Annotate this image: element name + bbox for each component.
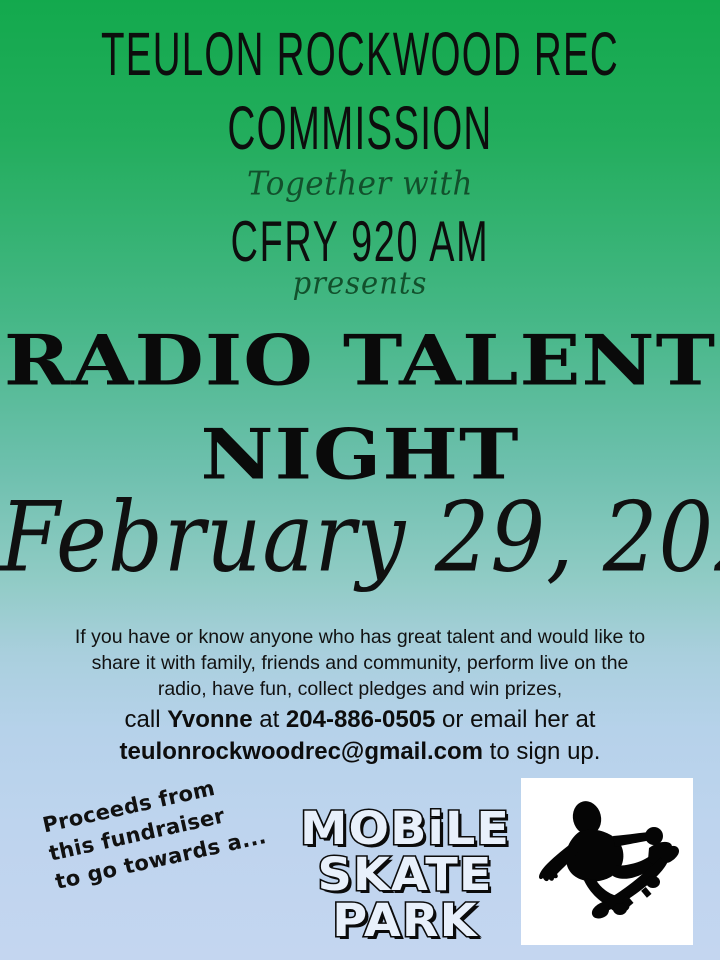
skateboarder-silhouette-icon [521,778,693,945]
proceeds-note: Proceeds from this fundraiser to go towa… [40,757,308,897]
organization-line-1: TEULON ROCKWOOD REC [65,18,655,90]
at-connector: at [253,706,286,733]
poster-canvas: TEULON ROCKWOOD REC COMMISSION Together … [0,0,720,960]
or-email-text: or email her at [435,706,595,733]
description-line-1: If you have or know anyone who has great… [14,624,706,650]
call-prefix: call [125,706,168,733]
event-title-line-1: RADIO TALENT [0,321,720,402]
contact-email-line: teulonrockwoodrec@gmail.com to sign up. [14,736,706,768]
contact-info: call Yvonne at 204-886-0505 or email her… [14,704,706,768]
together-with-text: Together with [0,165,720,203]
skate-logo-line-1: MOBiLE [299,806,511,852]
phone-number[interactable]: 204-886-0505 [286,706,435,733]
description-paragraph: If you have or know anyone who has great… [14,624,706,702]
skate-logo-line-2: SKATE [299,852,511,898]
event-date: February 29, 2020 [0,482,720,594]
skater-image-card [521,778,693,945]
description-line-3: radio, have fun, collect pledges and win… [14,676,706,702]
email-address[interactable]: teulonrockwoodrec@gmail.com [120,738,483,765]
presents-text: presents [0,265,720,301]
signup-suffix: to sign up. [483,738,600,765]
organization-line-2: COMMISSION [65,92,655,164]
contact-phone-line: call Yvonne at 204-886-0505 or email her… [14,704,706,736]
description-line-2: share it with family, friends and commun… [14,650,706,676]
skate-logo-line-3: PARK [299,898,511,944]
contact-name: Yvonne [167,706,252,733]
mobile-skate-park-logo: MOBiLE SKATE PARK [305,806,505,951]
